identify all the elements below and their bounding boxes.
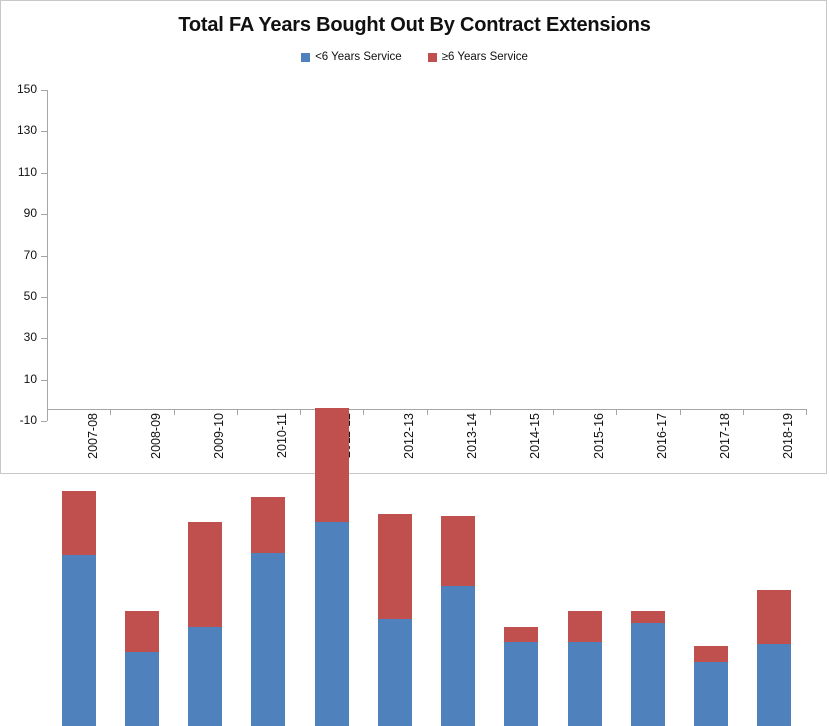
bar-stack[interactable]: [251, 408, 285, 409]
bar-segment-high-service[interactable]: [568, 611, 602, 642]
legend-label-low-service: <6 Years Service: [315, 52, 402, 64]
bar-segment-low-service[interactable]: [125, 652, 159, 726]
y-axis-tick-label: 150: [17, 82, 37, 96]
x-axis-category-label: 2018-19: [781, 413, 795, 459]
legend-entry-high-service[interactable]: ≥6 Years Service: [428, 52, 528, 64]
y-axis-tick-label: 30: [24, 330, 37, 344]
bar-stack[interactable]: [441, 408, 475, 409]
y-axis-tick-label: 70: [24, 248, 37, 262]
x-axis-tick-mark: [110, 409, 111, 415]
bar-segment-low-service[interactable]: [188, 627, 222, 726]
x-axis-tick-mark: [300, 409, 301, 415]
x-axis-category-label: 2014-15: [528, 413, 542, 459]
bar-segment-low-service[interactable]: [378, 619, 412, 726]
y-axis-tick-label: -10: [20, 413, 37, 427]
bar-segment-low-service[interactable]: [757, 644, 791, 726]
y-axis-tick-label: 90: [24, 206, 37, 220]
legend-entry-low-service[interactable]: <6 Years Service: [301, 52, 402, 64]
x-axis-tick-mark: [743, 409, 744, 415]
x-axis-category-label: 2010-11: [275, 413, 289, 458]
x-axis-tick-mark: [174, 409, 175, 415]
bar-stack[interactable]: [631, 408, 665, 409]
bar-stack[interactable]: [378, 408, 412, 409]
y-axis-tick-label: 10: [24, 372, 37, 386]
x-axis-tick-mark: [47, 409, 48, 415]
x-axis-category-label: 2009-10: [212, 413, 226, 459]
bar-stack[interactable]: [315, 408, 349, 409]
bar-segment-high-service[interactable]: [188, 522, 222, 628]
bar-segment-high-service[interactable]: [757, 590, 791, 644]
bar-stack[interactable]: [568, 408, 602, 409]
bar-segment-low-service[interactable]: [315, 522, 349, 726]
y-axis-tick-label: 50: [24, 289, 37, 303]
bar-segment-high-service[interactable]: [694, 646, 728, 663]
legend-label-high-service: ≥6 Years Service: [442, 52, 528, 64]
chart-legend: <6 Years Service ≥6 Years Service: [1, 52, 828, 64]
bar-stack[interactable]: [757, 408, 791, 409]
x-axis-category-label: 2015-16: [592, 413, 606, 459]
bar-segment-low-service[interactable]: [631, 623, 665, 726]
bar-stack[interactable]: [188, 408, 222, 409]
bar-segment-high-service[interactable]: [62, 491, 96, 555]
y-axis-tick-label: 110: [18, 165, 37, 179]
y-axis-tick-label: 130: [17, 123, 37, 137]
bar-segment-low-service[interactable]: [504, 642, 538, 726]
y-axis-tick-mark: [41, 421, 47, 422]
x-axis-category-label: 2013-14: [465, 413, 479, 459]
bar-segment-low-service[interactable]: [694, 662, 728, 726]
bar-segment-low-service[interactable]: [441, 586, 475, 726]
bar-stack[interactable]: [62, 408, 96, 409]
x-axis-tick-mark: [237, 409, 238, 415]
x-axis-category-label: 2012-13: [402, 413, 416, 459]
chart-container: Total FA Years Bought Out By Contract Ex…: [0, 0, 827, 474]
bar-segment-low-service[interactable]: [62, 555, 96, 726]
x-axis-category-label: 2007-08: [86, 413, 100, 459]
x-axis-category-label: 2016-17: [655, 413, 669, 459]
legend-swatch-high-service: [428, 53, 437, 62]
chart-title: Total FA Years Bought Out By Contract Ex…: [1, 14, 828, 37]
bar-segment-high-service[interactable]: [504, 627, 538, 641]
bar-segment-low-service[interactable]: [251, 553, 285, 726]
bar-segment-high-service[interactable]: [631, 611, 665, 623]
x-axis-category-label: 2008-09: [149, 413, 163, 459]
bar-segment-high-service[interactable]: [441, 516, 475, 586]
x-axis-category-label: 2017-18: [718, 413, 732, 459]
bar-stack[interactable]: [694, 408, 728, 409]
bar-segment-low-service[interactable]: [568, 642, 602, 726]
plot-area: [47, 90, 806, 409]
x-axis-tick-mark: [490, 409, 491, 415]
bar-segment-high-service[interactable]: [251, 497, 285, 553]
x-axis-tick-mark: [806, 409, 807, 415]
x-axis-tick-mark: [363, 409, 364, 415]
bar-segment-high-service[interactable]: [315, 408, 349, 522]
bar-stack[interactable]: [125, 408, 159, 409]
bar-segment-high-service[interactable]: [378, 514, 412, 620]
bar-stack[interactable]: [504, 408, 538, 409]
x-axis-tick-mark: [553, 409, 554, 415]
x-axis-tick-mark: [616, 409, 617, 415]
x-axis-tick-mark: [427, 409, 428, 415]
legend-swatch-low-service: [301, 53, 310, 62]
x-axis-tick-mark: [680, 409, 681, 415]
bar-segment-high-service[interactable]: [125, 611, 159, 652]
